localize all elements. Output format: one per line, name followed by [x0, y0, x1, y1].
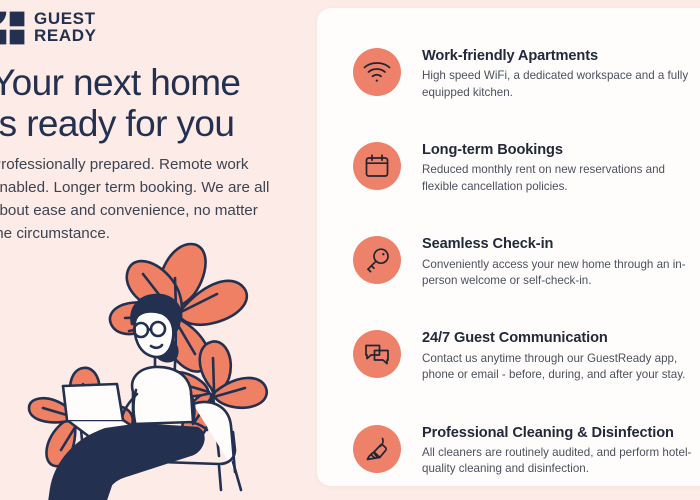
brand-logo[interactable]: GUEST READY	[0, 11, 97, 45]
feature-text: Professional Cleaning & Disinfection All…	[422, 423, 697, 478]
features-card: Work-friendly Apartments High speed WiFi…	[317, 8, 700, 486]
hero-column: GUEST READY Your next home is ready for …	[0, 0, 313, 500]
feature-item-guest-communication[interactable]: 24/7 Guest Communication Contact us anyt…	[353, 328, 700, 383]
broom-icon	[353, 425, 401, 473]
feature-title: Professional Cleaning & Disinfection	[422, 424, 697, 442]
feature-title: Work-friendly Apartments	[422, 47, 697, 65]
feature-title: 24/7 Guest Communication	[422, 329, 697, 347]
calendar-icon	[353, 142, 401, 190]
headline-line-2: is ready for you	[0, 103, 321, 144]
key-icon	[353, 236, 401, 284]
feature-description: All cleaners are routinely audited, and …	[422, 445, 697, 478]
feature-item-cleaning-disinfection[interactable]: Professional Cleaning & Disinfection All…	[353, 423, 700, 478]
feature-description: High speed WiFi, a dedicated workspace a…	[422, 68, 697, 101]
feature-description: Conveniently access your new home throug…	[422, 257, 697, 290]
feature-item-work-friendly-apartments[interactable]: Work-friendly Apartments High speed WiFi…	[353, 46, 700, 101]
feature-description: Reduced monthly rent on new reservations…	[422, 162, 697, 195]
feature-text: 24/7 Guest Communication Contact us anyt…	[422, 328, 697, 383]
hero-illustration	[5, 218, 305, 500]
feature-title: Long-term Bookings	[422, 141, 697, 159]
guestready-logo-icon	[0, 11, 25, 45]
feature-description: Contact us anytime through our GuestRead…	[422, 351, 697, 384]
feature-item-long-term-bookings[interactable]: Long-term Bookings Reduced monthly rent …	[353, 140, 700, 195]
promo-page: GUEST READY Your next home is ready for …	[0, 0, 700, 500]
feature-title: Seamless Check-in	[422, 235, 697, 253]
feature-item-seamless-check-in[interactable]: Seamless Check-in Conveniently access yo…	[353, 234, 700, 289]
brand-wordmark: GUEST READY	[34, 11, 97, 44]
feature-text: Long-term Bookings Reduced monthly rent …	[422, 140, 697, 195]
page-title: Your next home is ready for you	[0, 62, 321, 145]
feature-list: Work-friendly Apartments High speed WiFi…	[353, 46, 700, 478]
chat-bubbles-icon	[353, 330, 401, 378]
headline-line-1: Your next home	[0, 62, 240, 103]
brand-word-line2: READY	[34, 28, 97, 45]
feature-text: Work-friendly Apartments High speed WiFi…	[422, 46, 697, 101]
feature-text: Seamless Check-in Conveniently access yo…	[422, 234, 697, 289]
wifi-icon	[353, 48, 401, 96]
